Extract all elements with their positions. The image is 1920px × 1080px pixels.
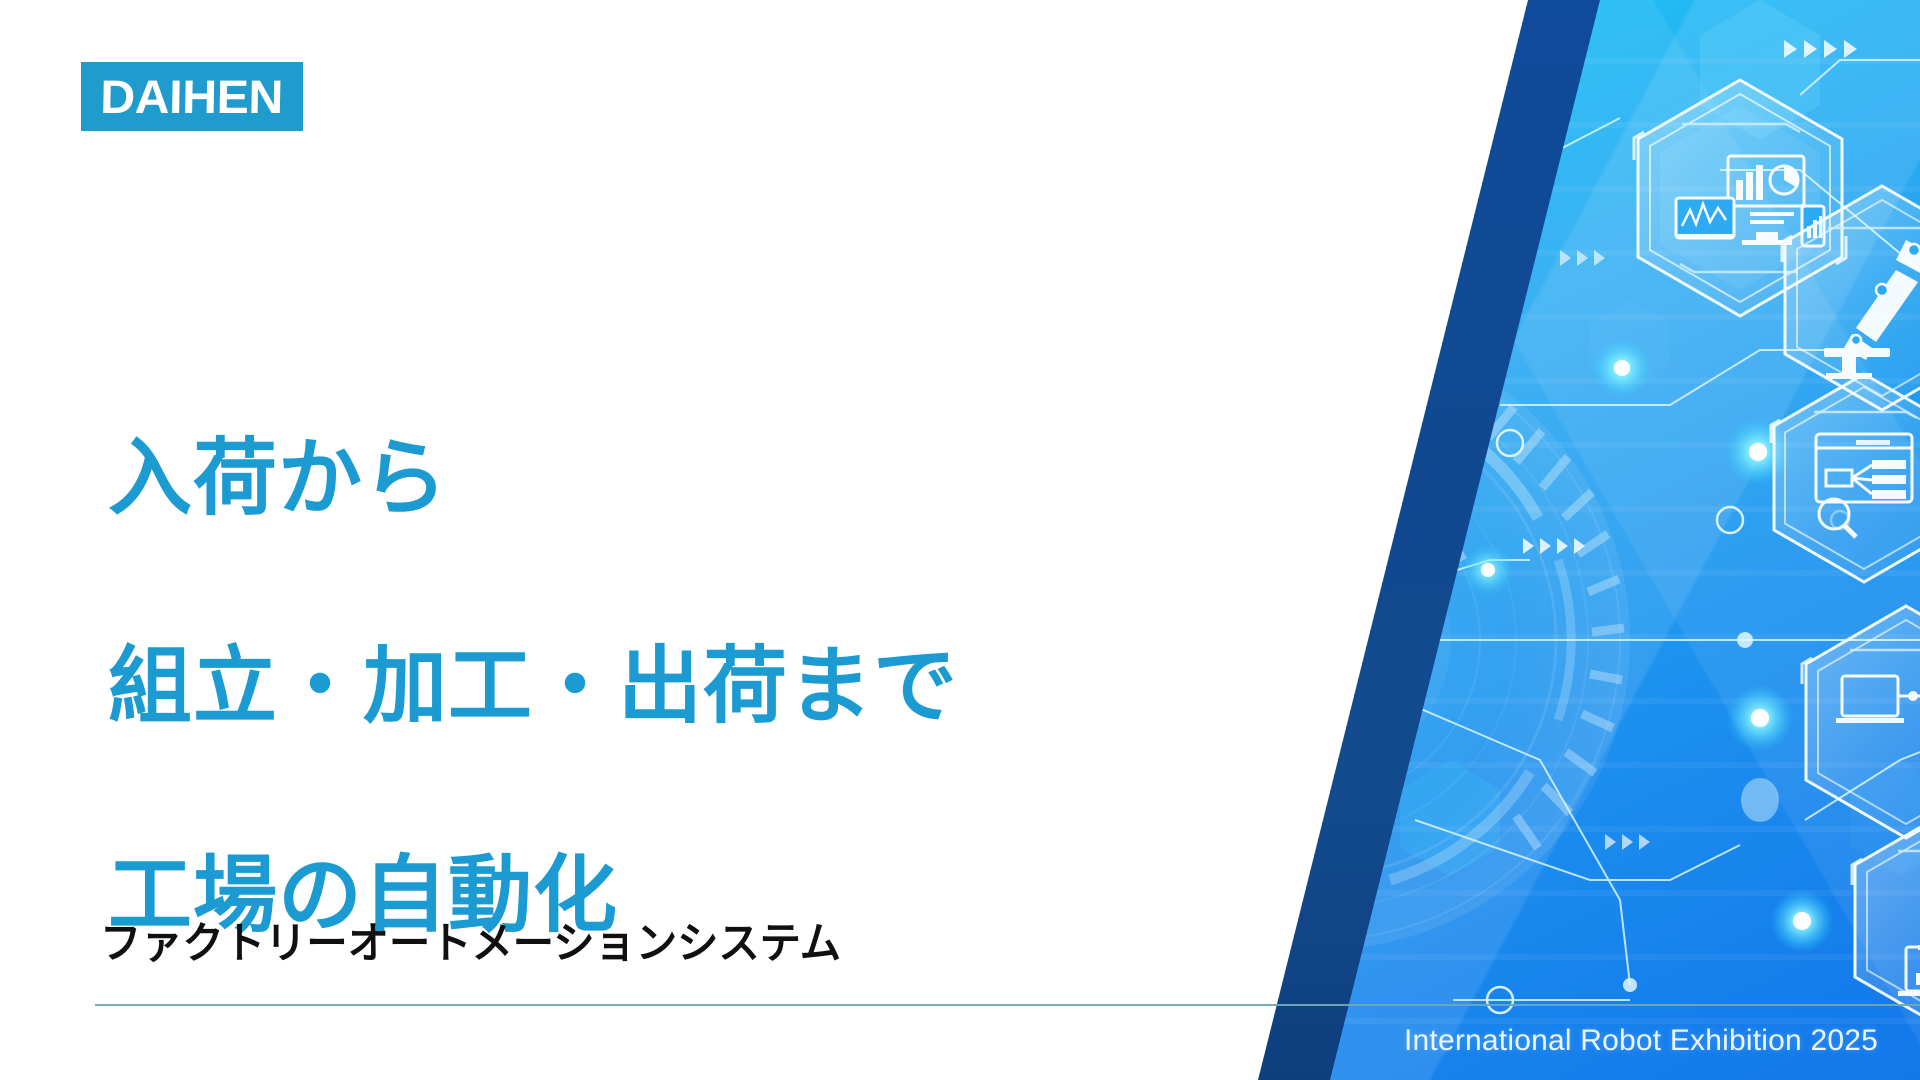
page-title-line-1: 入荷から (108, 426, 958, 530)
daihen-logo-wordmark: DAIHEN (100, 73, 283, 120)
page-title-line-2: 組立・加工・出荷まで (108, 634, 958, 738)
page-subtitle: ファクトリーオートメーションシステム (100, 921, 841, 968)
tech-graphic-panel (1200, 0, 1920, 1080)
exhibition-label: International Robot Exhibition 2025 (1404, 1024, 1878, 1058)
daihen-logo: DAIHEN (81, 62, 303, 131)
presentation-slide: DAIHEN 入荷から 組立・加工・出荷まで 工場の自動化 ファクトリーオートメ… (0, 0, 1920, 1080)
footer-divider (95, 1004, 1920, 1006)
data-search-icon (1771, 374, 1920, 582)
